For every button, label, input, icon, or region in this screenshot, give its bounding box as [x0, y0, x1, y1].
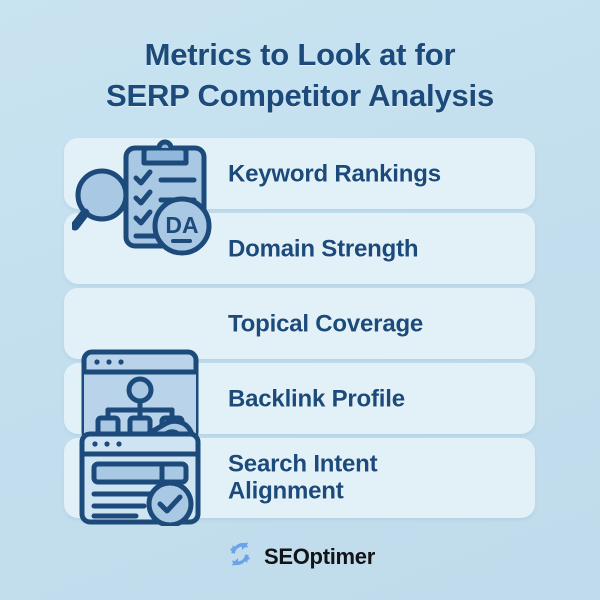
metric-label-backlink-profile: Backlink Profile — [228, 385, 405, 412]
metric-label-keyword-rankings: Keyword Rankings — [228, 160, 441, 187]
seoptimer-gear-icon — [225, 539, 255, 574]
page-title: Metrics to Look at for SERP Competitor A… — [0, 34, 600, 116]
metric-label-topical-coverage: Topical Coverage — [228, 310, 423, 337]
list-item[interactable]: Backlink Profile — [64, 363, 535, 434]
footer-logo: SEOptimer — [0, 539, 600, 574]
title-line-2: SERP Competitor Analysis — [0, 75, 600, 116]
list-item[interactable]: Domain Strength — [64, 213, 535, 284]
infographic-poster: Metrics to Look at for SERP Competitor A… — [0, 0, 600, 600]
title-line-1: Metrics to Look at for — [0, 34, 600, 75]
metrics-list: Keyword Rankings Domain Strength Topical… — [64, 138, 535, 522]
brand-name: SEOptimer — [264, 544, 375, 570]
list-item[interactable]: Keyword Rankings — [64, 138, 535, 209]
list-item[interactable]: Search Intent Alignment — [64, 438, 535, 518]
metric-label-domain-strength: Domain Strength — [228, 235, 418, 262]
list-item[interactable]: Topical Coverage — [64, 288, 535, 359]
metric-label-search-intent-alignment: Search Intent Alignment — [228, 451, 377, 506]
